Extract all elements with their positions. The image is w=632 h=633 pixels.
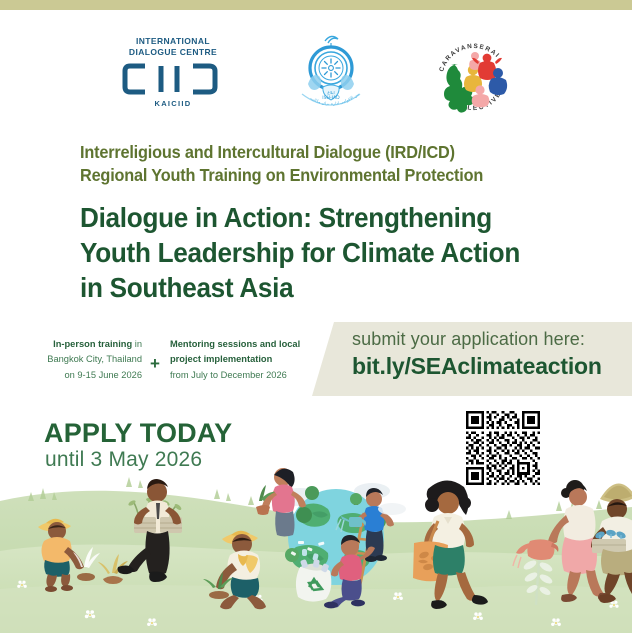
application-label: submit your application here:	[352, 329, 585, 350]
islamic-council-emblem: ابلاغ ISH-IAD بین الاقوامی ادارہ برائے م…	[292, 32, 370, 116]
event-title: Dialogue in Action: Strengthening Youth …	[80, 200, 593, 306]
apply-today-headline: APPLY TODAY	[44, 418, 232, 449]
kaiciid-logo-caption: KAICIID	[112, 99, 234, 108]
in-person-training-dates: on 9-15 June 2026	[18, 368, 142, 383]
poster-canvas: INTERNATIONAL DIALOGUE CENTRE KAICIID	[0, 0, 632, 633]
event-title-line2: Youth Leadership for Climate Action	[80, 235, 593, 270]
event-subtitle: Interreligious and Intercultural Dialogu…	[80, 141, 564, 188]
plus-separator-icon: +	[150, 355, 160, 372]
mentoring-period: from July to December 2026	[170, 368, 320, 383]
in-person-training-line1: In-person training in	[18, 337, 142, 352]
in-person-training-suffix: in	[132, 339, 142, 349]
in-person-training-location: Bangkok City, Thailand	[18, 352, 142, 367]
partner-logo-row: INTERNATIONAL DIALOGUE CENTRE KAICIID	[0, 30, 632, 126]
mentoring-emphasis-line1: Mentoring sessions and local	[170, 337, 320, 352]
top-accent-bar	[0, 0, 632, 10]
event-title-line3: in Southeast Asia	[80, 270, 593, 305]
kaiciid-logo: INTERNATIONAL DIALOGUE CENTRE KAICIID	[112, 30, 234, 108]
kaiciid-logo-line2: DIALOGUE CENTRE	[112, 47, 234, 58]
mentoring-details: Mentoring sessions and local project imp…	[170, 337, 320, 383]
illustration-band	[0, 455, 632, 633]
event-subtitle-line1: Interreligious and Intercultural Dialogu…	[80, 141, 564, 164]
event-title-line1: Dialogue in Action: Strengthening	[80, 200, 593, 235]
mentoring-emphasis-line2: project implementation	[170, 352, 320, 367]
application-url[interactable]: bit.ly/SEAclimateaction	[352, 353, 602, 380]
kaiciid-logo-line1: INTERNATIONAL	[112, 36, 234, 47]
in-person-training-details: In-person training in Bangkok City, Thai…	[18, 337, 142, 383]
svg-text:ISH-IAD: ISH-IAD	[322, 95, 340, 101]
svg-text:ابلاغ: ابلاغ	[327, 90, 334, 95]
in-person-training-emphasis: In-person training	[53, 339, 132, 349]
caravanserai-collective-logo: CARAVANSERAI COLLECTIVE	[428, 30, 520, 120]
kaiciid-wordmark-icon	[121, 62, 225, 96]
event-subtitle-line2: Regional Youth Training on Environmental…	[80, 164, 564, 187]
